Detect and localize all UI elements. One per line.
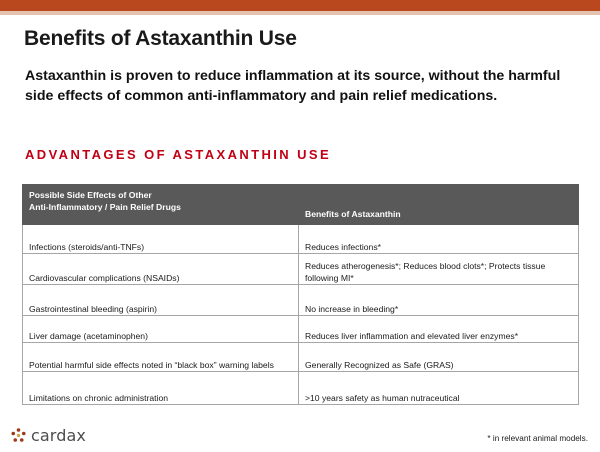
cell-side-effect: Potential harmful side effects noted in …: [23, 343, 299, 372]
cell-benefit: Reduces infections*: [299, 225, 579, 254]
cardax-flower-icon: [10, 427, 27, 444]
table-row: Limitations on chronic administration >1…: [23, 372, 579, 405]
column-header-benefits: Benefits of Astaxanthin: [299, 185, 579, 225]
table-row: Infections (steroids/anti-TNFs) Reduces …: [23, 225, 579, 254]
top-accent-bar: [0, 0, 600, 11]
table-row: Cardiovascular complications (NSAIDs) Re…: [23, 254, 579, 285]
top-accent-bar-light: [0, 11, 600, 15]
cell-side-effect: Limitations on chronic administration: [23, 372, 299, 405]
cell-benefit: Reduces liver inflammation and elevated …: [299, 316, 579, 343]
footnote: * in relevant animal models.: [487, 434, 588, 443]
table-header: Possible Side Effects of Other Anti-Infl…: [23, 185, 579, 225]
cell-side-effect: Cardiovascular complications (NSAIDs): [23, 254, 299, 285]
column-header-side-effects-line2: Anti-Inflammatory / Pain Relief Drugs: [29, 202, 292, 214]
benefits-comparison-table: Possible Side Effects of Other Anti-Infl…: [22, 184, 579, 405]
table-row: Gastrointestinal bleeding (aspirin) No i…: [23, 285, 579, 316]
section-heading: ADVANTAGES OF ASTAXANTHIN USE: [25, 147, 331, 162]
cell-benefit: No increase in bleeding*: [299, 285, 579, 316]
cell-side-effect: Liver damage (acetaminophen): [23, 316, 299, 343]
cardax-logo-text: cardax: [31, 426, 86, 445]
table-header-row: Possible Side Effects of Other Anti-Infl…: [23, 185, 579, 225]
cell-benefit: Generally Recognized as Safe (GRAS): [299, 343, 579, 372]
cardax-logo: cardax: [10, 426, 86, 445]
cell-side-effect: Infections (steroids/anti-TNFs): [23, 225, 299, 254]
table-body: Infections (steroids/anti-TNFs) Reduces …: [23, 225, 579, 405]
slide-subtitle: Astaxanthin is proven to reduce inflamma…: [25, 66, 577, 106]
column-header-side-effects: Possible Side Effects of Other Anti-Infl…: [23, 185, 299, 225]
slide-canvas: Benefits of Astaxanthin Use Astaxanthin …: [0, 0, 600, 452]
table-row: Liver damage (acetaminophen) Reduces liv…: [23, 316, 579, 343]
table-row: Potential harmful side effects noted in …: [23, 343, 579, 372]
cell-side-effect: Gastrointestinal bleeding (aspirin): [23, 285, 299, 316]
cell-benefit: >10 years safety as human nutraceutical: [299, 372, 579, 405]
cell-benefit: Reduces atherogenesis*; Reduces blood cl…: [299, 254, 579, 285]
page-title: Benefits of Astaxanthin Use: [24, 27, 297, 51]
column-header-side-effects-line1: Possible Side Effects of Other: [29, 190, 292, 202]
